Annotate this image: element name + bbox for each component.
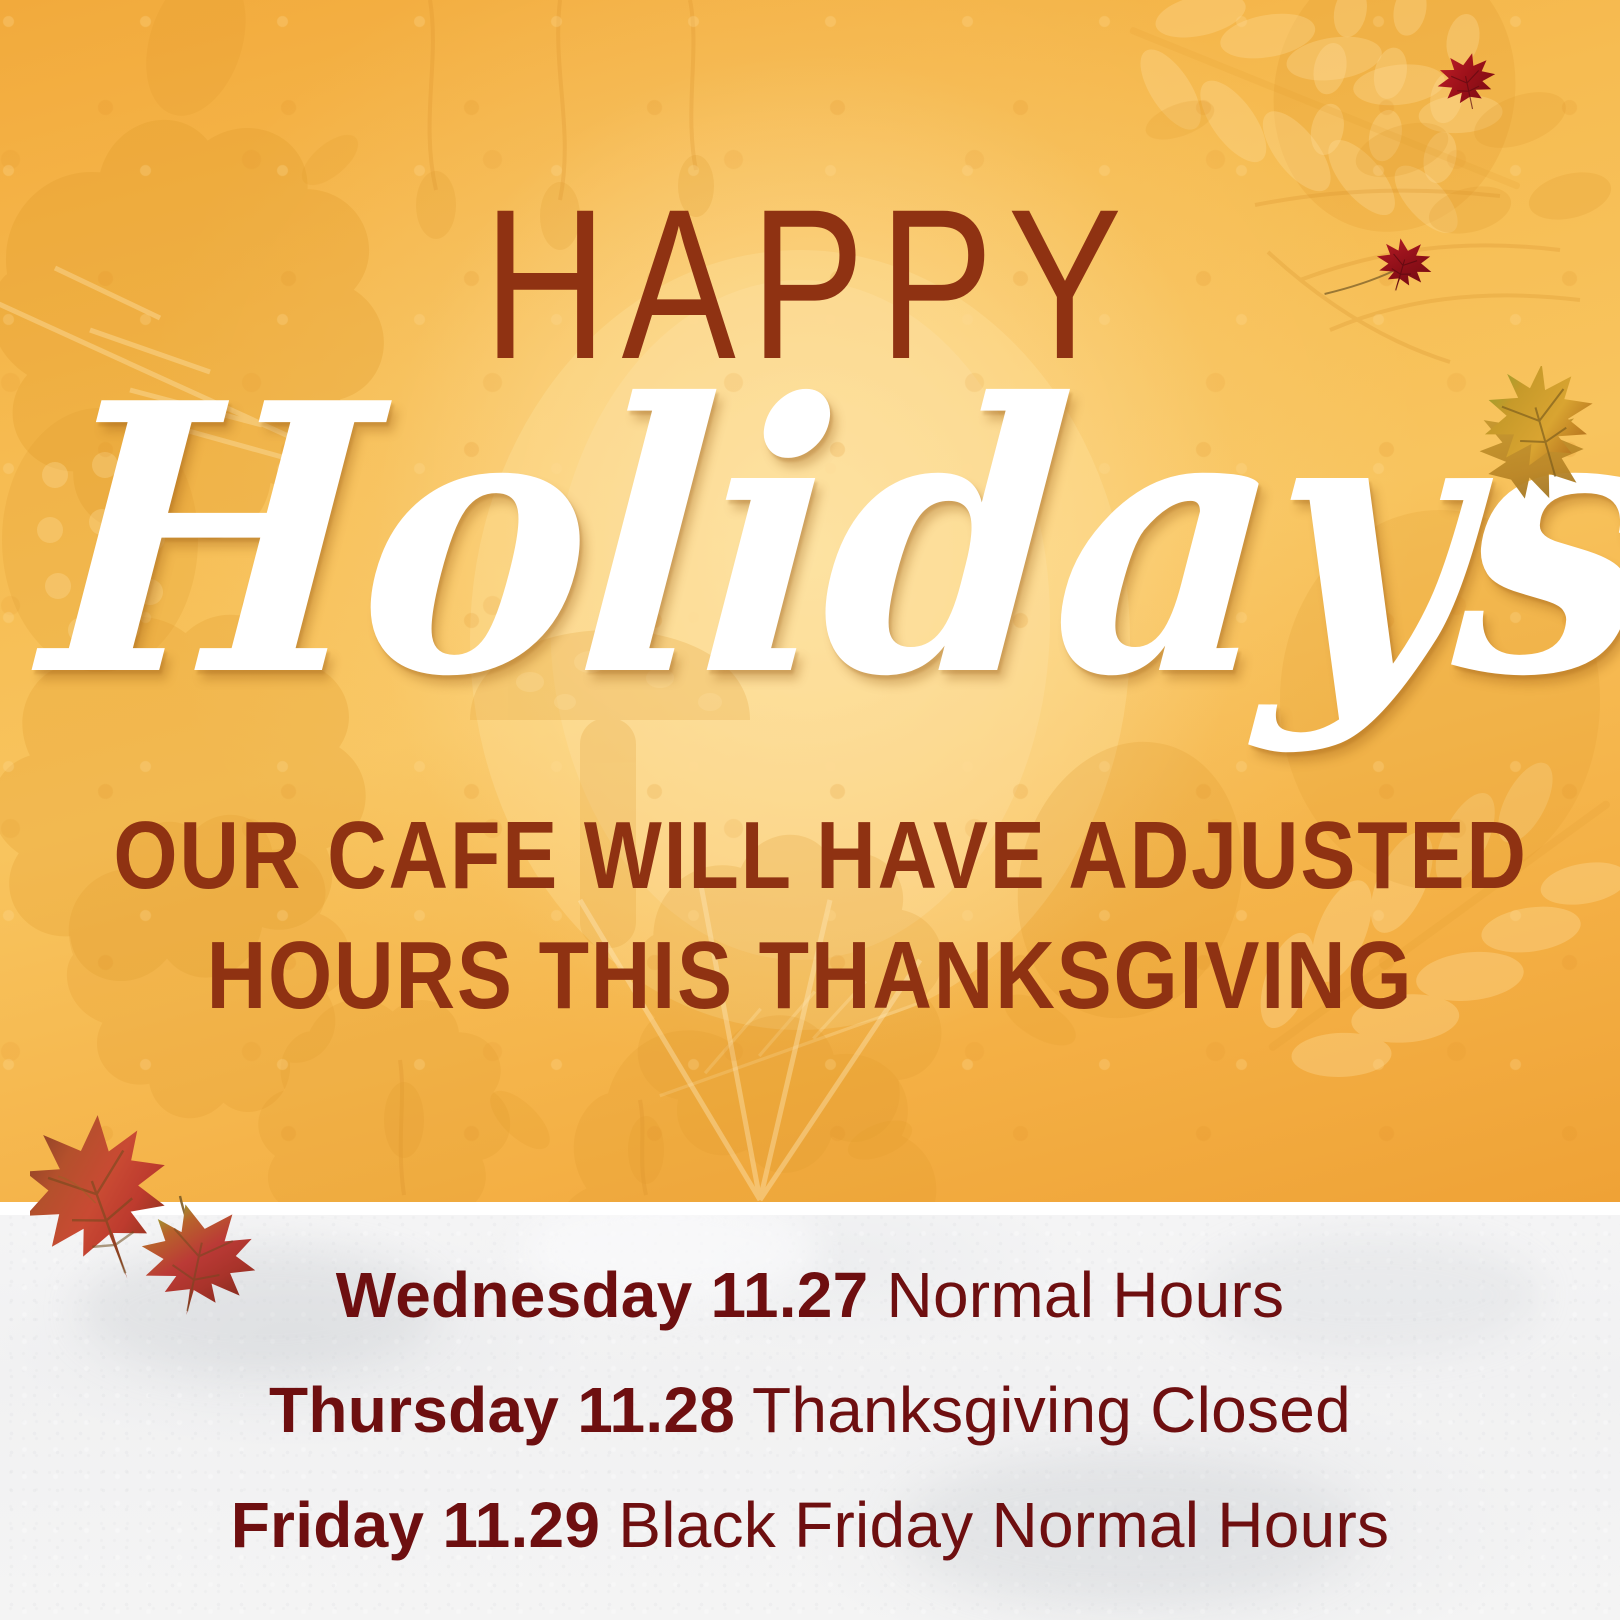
schedule-row: Friday 11.29 Black Friday Normal Hours (0, 1468, 1620, 1583)
schedule-note-2: Black Friday Normal Hours (600, 1489, 1389, 1561)
schedule-list: Wednesday 11.27 Normal Hours Thursday 11… (0, 1238, 1620, 1583)
white-divider-band (0, 1202, 1620, 1215)
schedule-note-1: Thanksgiving Closed (735, 1374, 1351, 1446)
headline-holidays-script: Holidays! (35, 356, 1555, 726)
schedule-day-0: Wednesday 11.27 (336, 1259, 869, 1331)
schedule-row: Wednesday 11.27 Normal Hours (0, 1238, 1620, 1353)
schedule-row: Thursday 11.28 Thanksgiving Closed (0, 1353, 1620, 1468)
schedule-note-0: Normal Hours (868, 1259, 1284, 1331)
poster-canvas: HAPPY Holidays! OUR CAFE WILL HAVE ADJUS… (0, 0, 1620, 1620)
paper-background-panel: Wednesday 11.27 Normal Hours Thursday 11… (0, 1215, 1620, 1620)
schedule-day-2: Friday 11.29 (231, 1489, 601, 1561)
subheading-line-2: HOURS THIS THANKSGIVING (113, 928, 1506, 1024)
subheading-line-1: OUR CAFE WILL HAVE ADJUSTED (113, 808, 1506, 904)
orange-background-panel: HAPPY Holidays! OUR CAFE WILL HAVE ADJUS… (0, 0, 1620, 1202)
schedule-day-1: Thursday 11.28 (269, 1374, 735, 1446)
